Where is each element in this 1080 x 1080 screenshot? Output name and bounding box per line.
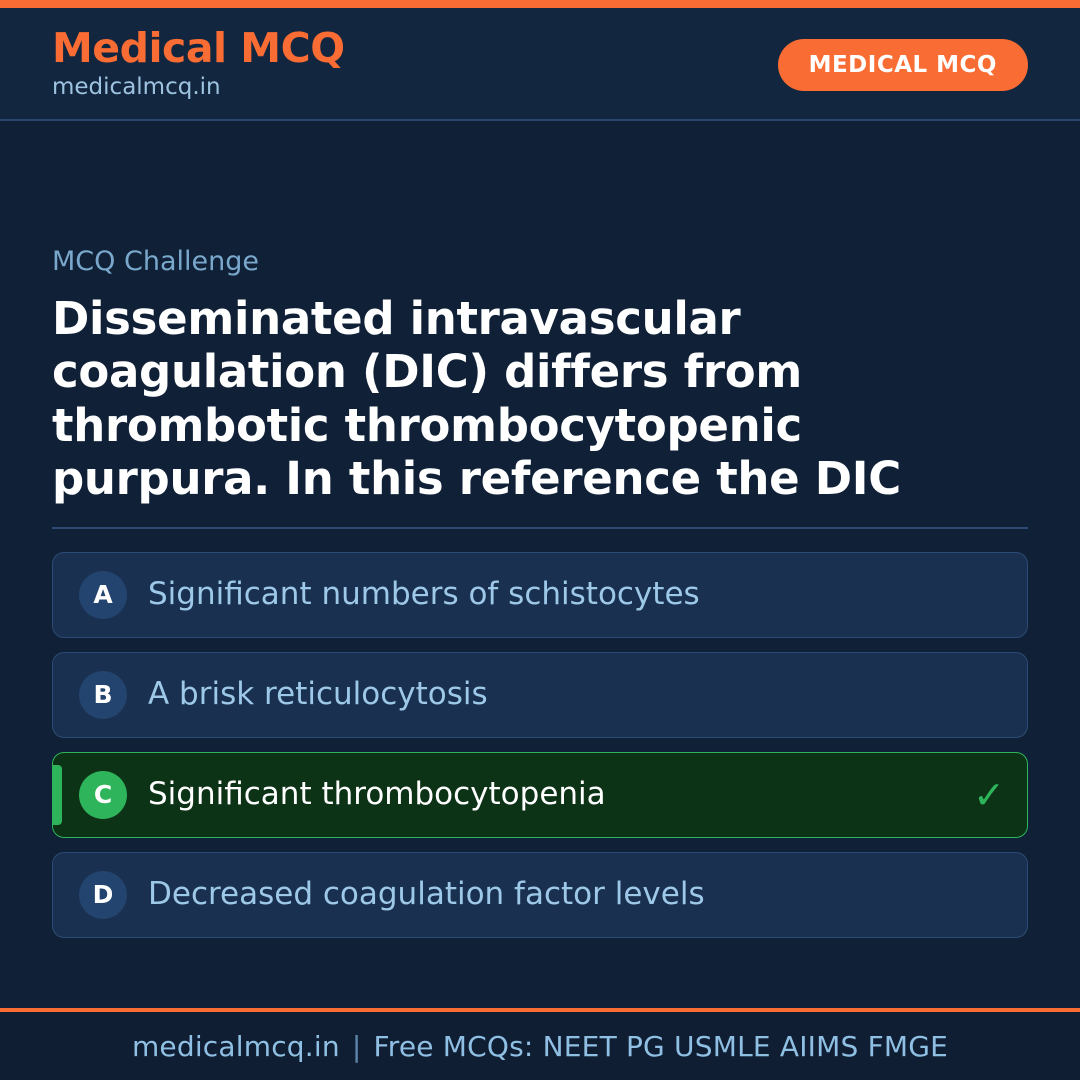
option-text-a: Significant numbers of schistocytes [148, 576, 965, 613]
footer-site-link[interactable]: medicalmcq.in [132, 1030, 340, 1063]
option-letter-c: C [79, 771, 127, 819]
option-letter-a: A [79, 571, 127, 619]
medical-mcq-badge[interactable]: MEDICAL MCQ [778, 39, 1028, 91]
option-letter-b: B [79, 671, 127, 719]
header: Medical MCQ medicalmcq.in MEDICAL MCQ [0, 8, 1080, 121]
brand: Medical MCQ medicalmcq.in [52, 27, 345, 102]
correct-check-icon: ✓ [965, 776, 1005, 814]
option-text-c: Significant thrombocytopenia [148, 776, 965, 813]
kicker-label: MCQ Challenge [52, 246, 1028, 278]
question-divider [52, 527, 1028, 529]
top-accent-bar [0, 0, 1080, 8]
brand-subtitle: medicalmcq.in [52, 73, 345, 102]
footer-text: medicalmcq.in|Free MCQs: NEET PG USMLE A… [132, 1030, 948, 1063]
option-d[interactable]: D Decreased coagulation factor levels [52, 852, 1028, 938]
correct-accent-bar [53, 765, 62, 825]
option-text-b: A brisk reticulocytosis [148, 676, 965, 713]
option-a[interactable]: A Significant numbers of schistocytes [52, 552, 1028, 638]
mcq-card: Medical MCQ medicalmcq.in MEDICAL MCQ MC… [0, 0, 1080, 1080]
question-text: Disseminated intravascular coagulation (… [52, 292, 1028, 504]
footer-separator: | [340, 1030, 374, 1063]
main-content: MCQ Challenge Disseminated intravascular… [0, 121, 1080, 1008]
option-b[interactable]: B A brisk reticulocytosis [52, 652, 1028, 738]
option-c[interactable]: C Significant thrombocytopenia ✓ [52, 752, 1028, 838]
footer-exams-text: Free MCQs: NEET PG USMLE AIIMS FMGE [373, 1030, 948, 1063]
option-letter-d: D [79, 871, 127, 919]
brand-title: Medical MCQ [52, 27, 345, 70]
options-list: A Significant numbers of schistocytes B … [52, 552, 1028, 938]
option-text-d: Decreased coagulation factor levels [148, 876, 965, 913]
footer: medicalmcq.in|Free MCQs: NEET PG USMLE A… [0, 1008, 1080, 1080]
